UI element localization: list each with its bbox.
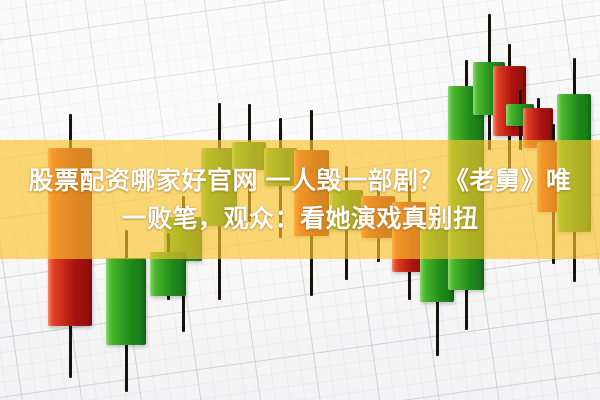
headline-banner: 股票配资哪家好官网 一人毁一部剧？《老舅》唯 一败笔，观众：看她演戏真别扭 [0, 140, 600, 259]
headline-line-2: 一败笔，观众：看她演戏真别扭 [121, 202, 478, 236]
headline-line-1: 股票配资哪家好官网 一人毁一部剧？《老舅》唯 [29, 164, 572, 198]
candlestick-body-up [106, 258, 146, 345]
chart-canvas: 股票配资哪家好官网 一人毁一部剧？《老舅》唯 一败笔，观众：看她演戏真别扭 [0, 0, 600, 400]
